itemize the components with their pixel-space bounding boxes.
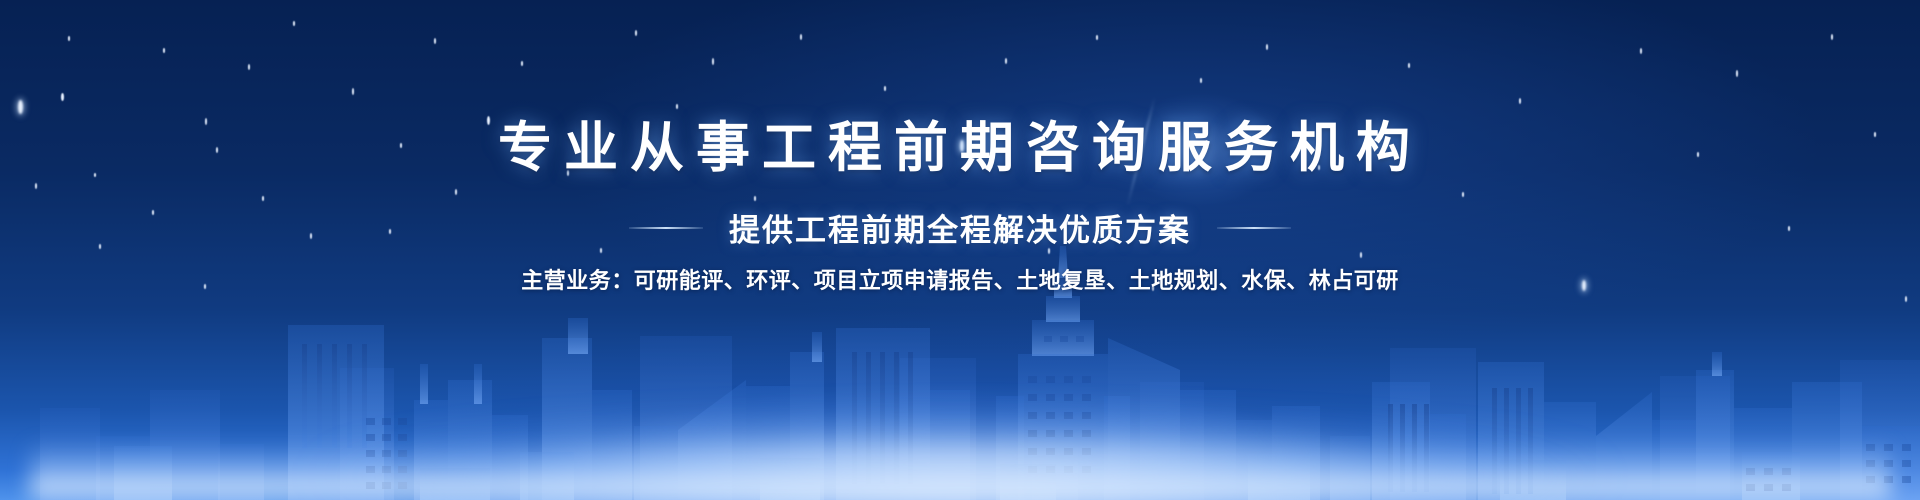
star <box>455 189 457 195</box>
star <box>754 196 756 201</box>
star <box>676 104 678 109</box>
star <box>800 34 802 40</box>
star <box>635 30 637 36</box>
decorative-dash-right-icon <box>1217 227 1291 229</box>
decorative-dash-left-icon <box>629 227 703 229</box>
star <box>262 196 264 201</box>
star <box>1831 34 1833 40</box>
star <box>1200 78 1202 83</box>
star <box>1462 192 1464 197</box>
star <box>35 183 37 189</box>
banner-services-line: 主营业务：可研能评、环评、项目立项申请报告、土地复垦、土地规划、水保、林占可研 <box>0 263 1920 295</box>
star <box>1408 63 1410 68</box>
banner-title: 专业从事工程前期咨询服务机构 <box>0 118 1920 178</box>
star <box>1005 58 1007 64</box>
star <box>1640 48 1642 54</box>
star <box>434 38 436 44</box>
star <box>163 48 165 53</box>
star <box>884 86 886 91</box>
hero-banner: 专业从事工程前期咨询服务机构 提供工程前期全程解决优质方案 主营业务：可研能评、… <box>0 0 1920 500</box>
star <box>1266 44 1268 50</box>
star <box>1096 35 1098 40</box>
star <box>248 64 250 70</box>
star <box>293 21 295 26</box>
star <box>712 58 714 65</box>
banner-subtitle: 提供工程前期全程解决优质方案 <box>729 205 1191 250</box>
star <box>352 88 354 95</box>
star <box>1519 98 1521 104</box>
star <box>1736 70 1738 77</box>
star <box>18 100 23 114</box>
star <box>68 36 70 41</box>
star <box>61 93 64 101</box>
banner-subtitle-row: 提供工程前期全程解决优质方案 <box>0 205 1920 250</box>
star <box>521 61 523 66</box>
